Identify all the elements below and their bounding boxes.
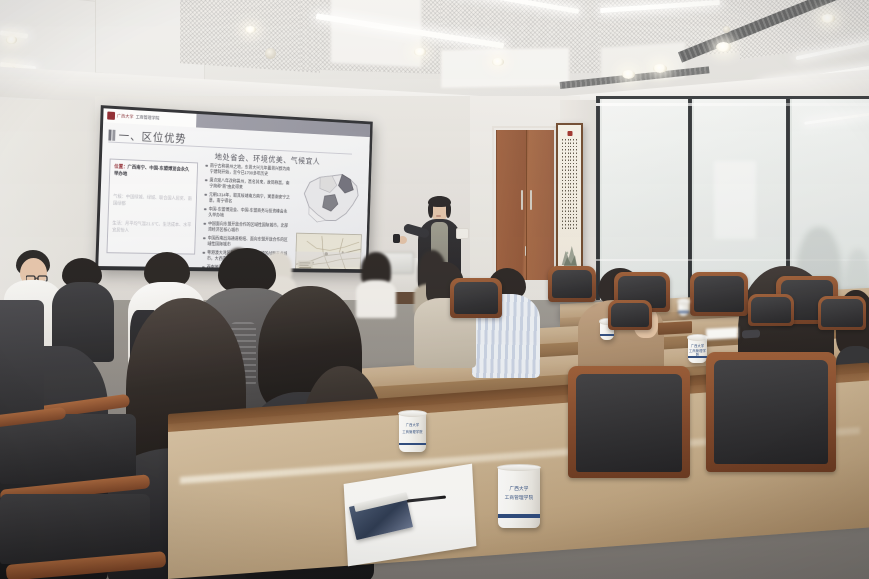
cup-brand-line2: 工商管理学院 <box>498 495 540 501</box>
slide-logo-primary: 广西大学 <box>117 113 134 120</box>
slide-left-textbox: 位置：广西南宁、中国-东盟博览会永久举办地 气候：中国绿城、绿城、联合国人居奖、… <box>106 159 198 255</box>
slide-left-line1: 位置：广西南宁、中国-东盟博览会永久举办地 <box>114 164 193 181</box>
cup-band <box>600 334 614 336</box>
slide-bullet: 南宁古称邕州之地，东晋大兴元年置晋兴郡为南宁建制开始，至今已1700多年历史 <box>205 163 292 179</box>
paper-cup[interactable]: 广西大学 工商管理学院 <box>498 466 540 528</box>
bullet-dot-icon <box>205 164 207 167</box>
scroll-calligraphy-columns <box>561 139 578 231</box>
scroll-seal <box>567 131 572 136</box>
ceiling-downlight <box>245 26 256 33</box>
glasses-icon <box>26 269 50 276</box>
ceiling-downlight <box>492 58 504 66</box>
cup-brand-line2: 工商管理学院 <box>399 430 426 434</box>
calligraphy-scroll-frame <box>556 123 583 275</box>
presenter-mouth <box>436 215 441 217</box>
slide-bullet: 元朝1314年，取其绥靖南方南宁，寓意南安宁之意，南宁得名 <box>204 192 291 207</box>
bullet-dot-icon <box>204 208 206 211</box>
slide-surface: 广西大学 工商管理学院 一、区位优势 地处省会、环境优美、气候宜人 位置：广西南… <box>98 108 370 269</box>
bullet-dot-icon <box>205 179 207 182</box>
ceiling-downlight <box>716 42 731 52</box>
slide-bullet: 中国面向东盟开放合作的区域性国际城市，北部湾经济区核心城市 <box>203 221 290 235</box>
bullet-dot-icon <box>203 222 205 225</box>
ceiling-downlight <box>6 36 17 44</box>
door-handle[interactable] <box>525 246 527 256</box>
wall-outlet <box>456 228 469 239</box>
lecture-room-photo: 广西大学 工商管理学院 一、区位优势 地处省会、环境优美、气候宜人 位置：广西南… <box>0 0 869 579</box>
presenter-hair-side <box>428 204 433 218</box>
ceiling-downlight <box>414 48 426 56</box>
cup-band <box>498 514 540 518</box>
logo-mark-icon <box>107 111 115 119</box>
ceiling-downlight <box>653 64 667 73</box>
paper-cup[interactable]: 广西大学 工商管理学院 <box>688 336 707 363</box>
ceiling-downlight <box>821 14 835 23</box>
presenter-hair-side <box>446 204 451 218</box>
audience-member-back-dark <box>52 258 114 358</box>
slide-left-faded-2: 生活：月平均气温21.6℃、生活成本、水平宜居怡人 <box>112 219 192 235</box>
desk-small-device <box>742 330 760 339</box>
slide-logo-secondary: 工商管理学院 <box>136 114 160 121</box>
slide-bullet: 中国-东盟博览会、中国-东盟商务与投资峰会永久举办地 <box>204 206 291 220</box>
slide-left-faded-1: 气候：中国绿城、绿城、联合国人居奖、南国绿都 <box>113 192 193 208</box>
door-handle[interactable] <box>530 190 532 210</box>
cup-brand-line1: 广西大学 <box>688 344 707 348</box>
room-door[interactable] <box>496 130 554 280</box>
paper-cup[interactable]: 广西大学 工商管理学院 <box>399 412 426 452</box>
presentation-clicker[interactable] <box>393 234 400 243</box>
scroll-ink-landscape <box>561 231 578 269</box>
audience-member-back-5 <box>356 252 396 316</box>
cup-band <box>399 443 426 446</box>
bullet-dot-icon <box>204 193 206 196</box>
bullet-dot-icon <box>203 237 205 240</box>
glass-reflection-document <box>714 161 756 239</box>
cup-band <box>688 356 707 359</box>
ceiling-downlight <box>622 70 635 79</box>
desk-paper[interactable] <box>706 327 738 340</box>
cup-brand-line1: 广西大学 <box>498 486 540 492</box>
slide-lower-decoration <box>295 251 363 267</box>
slide-province-map <box>296 165 364 230</box>
cup-brand-line1: 广西大学 <box>399 423 426 427</box>
slide-left-label: 位置： <box>114 164 127 170</box>
paper-cup[interactable] <box>678 300 689 316</box>
sprinkler-head <box>265 48 276 59</box>
cup-band <box>678 311 689 313</box>
sprinkler-head <box>723 26 730 33</box>
door-handle[interactable] <box>521 190 523 210</box>
desk-nameplate <box>658 321 692 335</box>
heading-accent-bars-icon <box>108 129 115 140</box>
slide-bullet: 唐贞观八年改称邕州，邕名其来，故简称邕，南宁简称“邕”由此得来 <box>205 177 292 192</box>
